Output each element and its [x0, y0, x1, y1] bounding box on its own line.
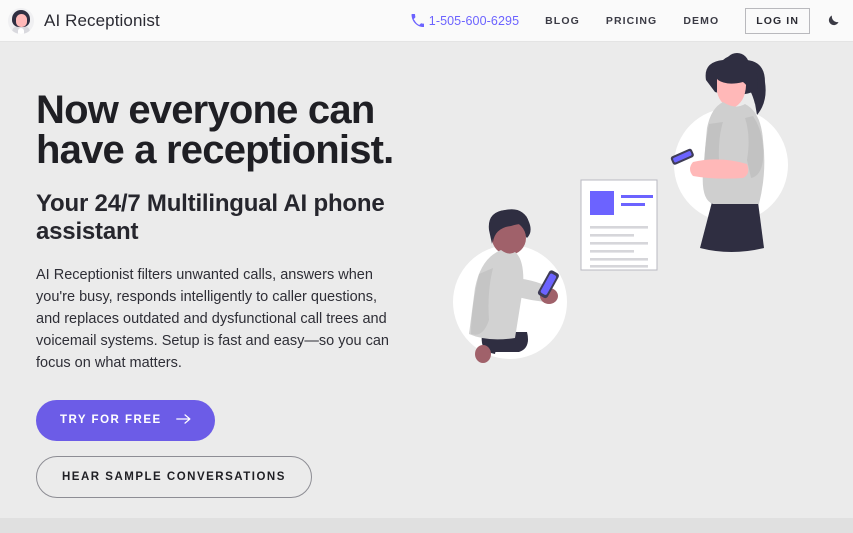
nav-link-demo[interactable]: DEMO [683, 15, 719, 27]
avatar-receptionist-icon [8, 8, 34, 34]
two-people-messaging-illustration [435, 52, 835, 382]
brand-name: AI Receptionist [44, 11, 160, 31]
headline-line-1: Now everyone can [36, 88, 374, 132]
main-navigation: 1-505-600-6295 BLOG PRICING DEMO LOG IN [411, 8, 841, 34]
phone-number-text: 1-505-600-6295 [429, 14, 519, 28]
hero-section: Now everyone can have a receptionist. Yo… [0, 42, 853, 518]
page-title: Now everyone can have a receptionist. [36, 90, 436, 170]
brand-logo[interactable]: AI Receptionist [8, 8, 160, 34]
login-button[interactable]: LOG IN [745, 8, 810, 34]
try-for-free-button[interactable]: TRY FOR FREE [36, 400, 215, 441]
document-card [581, 180, 657, 270]
hero-copy: Now everyone can have a receptionist. Yo… [36, 90, 436, 498]
phone-number-link[interactable]: 1-505-600-6295 [411, 14, 519, 28]
site-header: AI Receptionist 1-505-600-6295 BLOG PRIC… [0, 0, 853, 42]
woman-holding-phone-figure [670, 53, 788, 252]
headline-line-2: have a receptionist. [36, 128, 393, 172]
man-holding-phone-figure [453, 209, 567, 363]
hero-subheadline: Your 24/7 Multilingual AI phone assistan… [36, 190, 436, 246]
hero-body-text: AI Receptionist filters unwanted calls, … [36, 264, 396, 374]
try-for-free-label: TRY FOR FREE [60, 414, 162, 426]
phone-icon [411, 14, 424, 27]
cta-group: TRY FOR FREE HEAR SAMPLE CONVERSATIONS [36, 400, 436, 498]
arrow-right-icon [176, 413, 191, 428]
section-divider-strip [0, 518, 853, 533]
moon-icon[interactable] [826, 13, 841, 28]
nav-link-pricing[interactable]: PRICING [606, 15, 657, 27]
nav-link-blog[interactable]: BLOG [545, 15, 580, 27]
hear-sample-conversations-button[interactable]: HEAR SAMPLE CONVERSATIONS [36, 456, 312, 498]
